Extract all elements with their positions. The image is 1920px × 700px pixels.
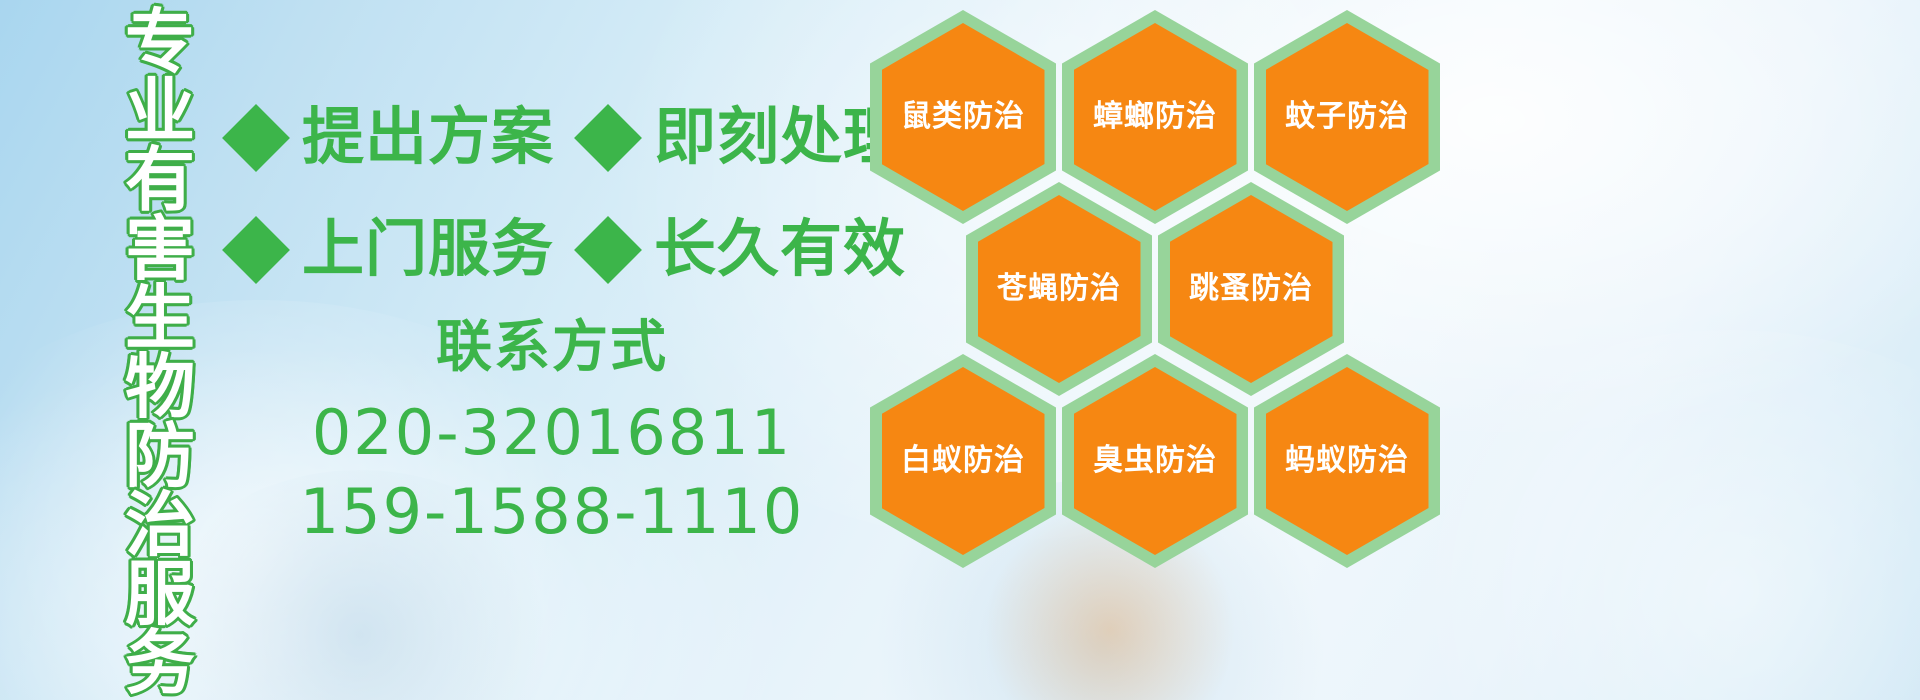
vertical-headline-char: 业 [125, 77, 195, 146]
vertical-headline-char: 服 [125, 560, 195, 629]
feature-list: 提出方案 即刻处理 上门服务 长久有效 [232, 82, 872, 306]
feature-item: 长久有效 [584, 219, 906, 281]
vertical-headline-char: 有 [125, 146, 195, 215]
service-hex-label: 白蚁防治 [901, 446, 1025, 476]
vertical-headline-char: 专 [125, 8, 195, 77]
feature-item: 即刻处理 [584, 107, 906, 169]
service-hex-termite[interactable]: 白蚁防治 [870, 354, 1056, 568]
vertical-headline-char: 害 [125, 215, 195, 284]
service-hex-label: 蚂蚁防治 [1285, 446, 1409, 476]
diamond-bullet-icon [222, 216, 290, 284]
service-hex-label: 跳蚤防治 [1189, 274, 1313, 304]
feature-row: 提出方案 即刻处理 [232, 82, 872, 194]
service-hex-fly[interactable]: 苍蝇防治 [966, 182, 1152, 396]
service-hex-ant[interactable]: 蚂蚁防治 [1254, 354, 1440, 568]
hex-inner-fill: 臭虫防治 [1074, 367, 1237, 555]
hex-inner-fill: 白蚁防治 [882, 367, 1045, 555]
feature-item: 上门服务 [232, 219, 554, 281]
service-hex-label: 鼠类防治 [901, 102, 1025, 132]
service-hex-label: 臭虫防治 [1093, 446, 1217, 476]
service-hex-flea[interactable]: 跳蚤防治 [1158, 182, 1344, 396]
hex-inner-fill: 苍蝇防治 [978, 195, 1141, 383]
service-hex-label: 蟑螂防治 [1093, 102, 1217, 132]
contact-phone-mobile[interactable]: 159-1588-1110 [232, 472, 872, 551]
service-hex-rodent[interactable]: 鼠类防治 [870, 10, 1056, 224]
diamond-bullet-icon [222, 104, 290, 172]
service-hex-mosquito[interactable]: 蚊子防治 [1254, 10, 1440, 224]
hex-inner-fill: 鼠类防治 [882, 23, 1045, 211]
feature-row: 上门服务 长久有效 [232, 194, 872, 306]
vertical-headline-char: 生 [125, 284, 195, 353]
hex-inner-fill: 蚊子防治 [1266, 23, 1429, 211]
feature-label: 提出方案 [302, 107, 554, 169]
vertical-headline-char: 物 [125, 353, 195, 422]
hex-inner-fill: 蚂蚁防治 [1266, 367, 1429, 555]
diamond-bullet-icon [574, 216, 642, 284]
service-hex-label: 蚊子防治 [1285, 102, 1409, 132]
diamond-bullet-icon [574, 104, 642, 172]
pest-control-banner: 专 业 有 害 生 物 防 治 服 务 提出方案 即刻处理 上门服务 [0, 0, 1920, 700]
service-hex-cockroach[interactable]: 蟑螂防治 [1062, 10, 1248, 224]
vertical-headline-char: 治 [125, 491, 195, 560]
vertical-headline: 专 业 有 害 生 物 防 治 服 务 [108, 8, 212, 628]
contact-phone-landline[interactable]: 020-32016811 [232, 393, 872, 472]
contact-title: 联系方式 [232, 318, 872, 377]
hex-inner-fill: 跳蚤防治 [1170, 195, 1333, 383]
service-hex-bedbug[interactable]: 臭虫防治 [1062, 354, 1248, 568]
vertical-headline-char: 防 [125, 422, 195, 491]
contact-block: 联系方式 020-32016811 159-1588-1110 [232, 318, 872, 552]
feature-label: 上门服务 [302, 219, 554, 281]
service-hex-label: 苍蝇防治 [997, 274, 1121, 304]
vertical-headline-char: 务 [125, 629, 195, 698]
hex-inner-fill: 蟑螂防治 [1074, 23, 1237, 211]
feature-item: 提出方案 [232, 107, 554, 169]
service-hex-grid: 鼠类防治 蟑螂防治 蚊子防治 苍蝇防治 跳蚤防治 白蚁防治 [862, 0, 1462, 700]
